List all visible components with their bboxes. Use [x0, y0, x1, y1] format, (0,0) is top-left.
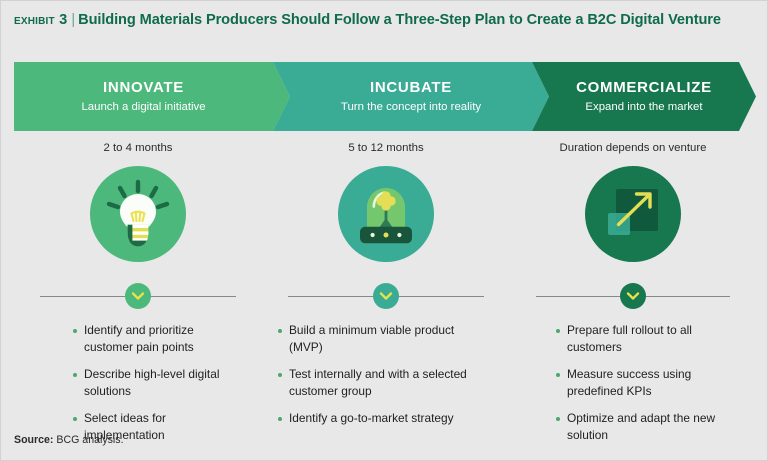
bullet-dot [73, 373, 77, 377]
phase-duration: 2 to 4 months [14, 140, 262, 156]
phase-divider [14, 283, 262, 309]
source-label: Source: [14, 434, 53, 446]
phase-title: INNOVATE [103, 79, 184, 97]
phase-chevron-commercialize[interactable]: COMMERCIALIZE Expand into the market [532, 62, 756, 131]
phase-bullet-list: Build a minimum viable product (MVP) Tes… [262, 322, 510, 427]
list-item-label: Prepare full rollout to all customers [567, 323, 692, 354]
phase-duration: Duration depends on venture [510, 140, 756, 156]
list-item-label: Optimize and adapt the new solution [567, 411, 715, 442]
list-item-label: Describe high-level digital solutions [84, 367, 220, 398]
phase-icon-wrapper [90, 166, 186, 262]
phase-title: INCUBATE [370, 79, 452, 97]
list-item-label: Measure success using predefined KPIs [567, 367, 691, 398]
phase-subtitle: Expand into the market [585, 100, 702, 114]
phase-column-innovate: 2 to 4 months [14, 140, 262, 440]
bullet-dot [556, 373, 560, 377]
bullet-dot [278, 329, 282, 333]
list-item: Measure success using predefined KPIs [556, 366, 736, 399]
exhibit-page: Exhibit 3|Building Materials Producers S… [0, 0, 768, 461]
list-item-label: Identify and prioritize customer pain po… [84, 323, 194, 354]
phase-icon-wrapper [338, 166, 434, 262]
source-note: Source: BCG analysis. [14, 433, 124, 447]
source-text: BCG analysis. [56, 434, 123, 446]
list-item: Test internally and with a selected cust… [278, 366, 482, 399]
exhibit-label: Exhibit 3 [14, 12, 67, 28]
bullet-dot [556, 329, 560, 333]
chevron-down-icon[interactable] [373, 283, 399, 309]
phase-column-commercialize: Duration depends on venture [510, 140, 756, 440]
list-item-label: Test internally and with a selected cust… [289, 367, 467, 398]
phase-title: COMMERCIALIZE [576, 79, 712, 97]
list-item: Prepare full rollout to all customers [556, 322, 736, 355]
expand-arrow-icon [585, 166, 681, 262]
list-item: Describe high-level digital solutions [73, 366, 234, 399]
bullet-dot [73, 329, 77, 333]
list-item: Build a minimum viable product (MVP) [278, 322, 482, 355]
phase-subtitle: Launch a digital initiative [81, 100, 205, 114]
list-item-label: Identify a go-to-market strategy [289, 411, 454, 425]
phase-bullet-list: Prepare full rollout to all customers Me… [510, 322, 756, 444]
exhibit-title: Building Materials Producers Should Foll… [78, 12, 721, 28]
lightbulb-icon [90, 166, 186, 262]
title-separator: | [67, 12, 78, 28]
phase-bullet-list: Identify and prioritize customer pain po… [14, 322, 262, 444]
list-item: Identify a go-to-market strategy [278, 410, 482, 427]
phase-divider [262, 283, 510, 309]
phase-chevron-innovate[interactable]: INNOVATE Launch a digital initiative [14, 62, 290, 131]
bullet-dot [556, 417, 560, 421]
phase-banner: INNOVATE Launch a digital initiative INC… [14, 62, 756, 131]
phase-divider [510, 283, 756, 309]
phase-duration: 5 to 12 months [262, 140, 510, 156]
chevron-down-icon[interactable] [620, 283, 646, 309]
chevron-down-icon[interactable] [125, 283, 151, 309]
phase-column-incubate: 5 to 12 months [262, 140, 510, 440]
phase-icon-wrapper [585, 166, 681, 262]
list-item: Identify and prioritize customer pain po… [73, 322, 234, 355]
bullet-dot [278, 373, 282, 377]
phase-subtitle: Turn the concept into reality [341, 100, 481, 114]
list-item-label: Build a minimum viable product (MVP) [289, 323, 454, 354]
list-item: Optimize and adapt the new solution [556, 410, 736, 443]
phase-chevron-incubate[interactable]: INCUBATE Turn the concept into reality [273, 62, 549, 131]
bullet-dot [73, 417, 77, 421]
bullet-dot [278, 417, 282, 421]
plant-incubator-icon [338, 166, 434, 262]
page-title: Exhibit 3|Building Materials Producers S… [14, 11, 754, 31]
